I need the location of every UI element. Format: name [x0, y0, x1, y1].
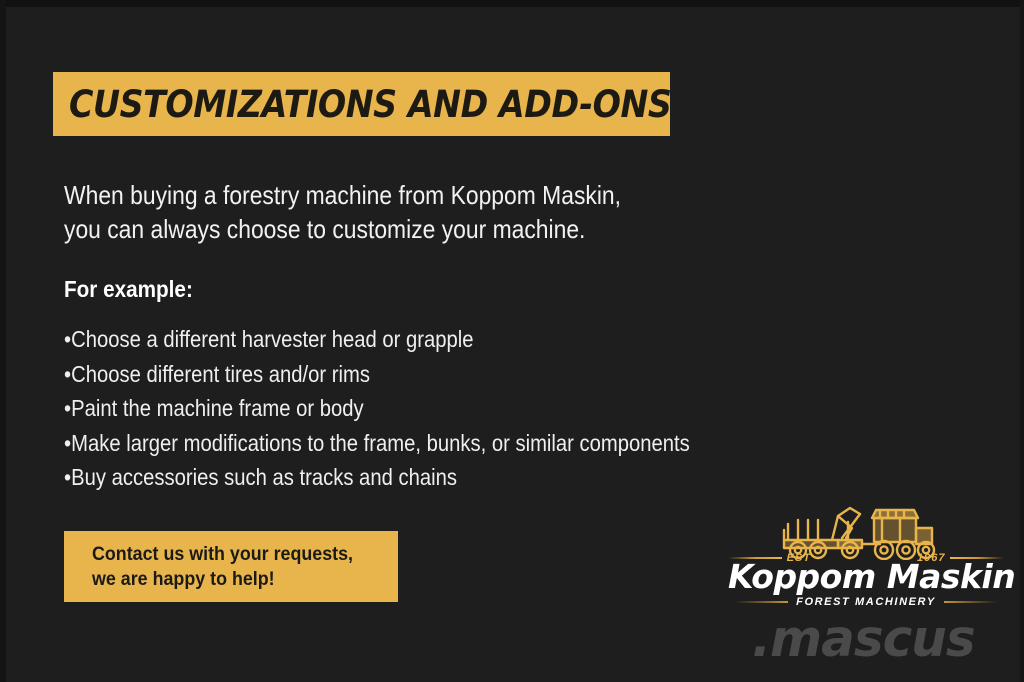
for-example-label: For example:: [64, 276, 193, 303]
mascus-watermark: .mascus: [752, 612, 1009, 668]
list-item-label: Choose different tires and/or rims: [71, 361, 370, 387]
title-banner: CUSTOMIZATIONS AND ADD-ONS: [53, 72, 670, 136]
logo-wordmark: Koppom Maskin: [728, 560, 1004, 594]
list-item-label: Choose a different harvester head or gra…: [71, 326, 473, 352]
contact-cta-box[interactable]: Contact us with your requests, we are ha…: [64, 531, 398, 602]
intro-line-1: When buying a forestry machine from Kopp…: [64, 178, 698, 212]
cta-line-1: Contact us with your requests,: [92, 542, 380, 567]
koppom-maskin-logo: EST 1967 Koppom Maskin FOREST MACHINERY: [728, 498, 1004, 610]
intro-line-2: you can always choose to customize your …: [64, 212, 698, 246]
intro-paragraph: When buying a forestry machine from Kopp…: [64, 178, 784, 246]
list-item-label: Make larger modifications to the frame, …: [71, 430, 690, 456]
logo-tag-rule-right: [944, 601, 998, 603]
right-edge-strip: [1020, 0, 1024, 682]
cta-line-2: we are happy to help!: [92, 567, 380, 592]
logo-tag-rule-left: [734, 601, 788, 603]
logo-tagline-row: FOREST MACHINERY: [734, 595, 998, 609]
bullet-marker-icon: •: [64, 361, 71, 387]
page-title: CUSTOMIZATIONS AND ADD-ONS: [69, 86, 671, 123]
list-item-label: Buy accessories such as tracks and chain…: [71, 464, 457, 490]
bullet-marker-icon: •: [64, 326, 71, 352]
list-item-label: Paint the machine frame or body: [71, 395, 364, 421]
promo-slide: CUSTOMIZATIONS AND ADD-ONS When buying a…: [0, 0, 1024, 682]
list-item: •Choose different tires and/or rims: [64, 357, 733, 392]
list-item: •Buy accessories such as tracks and chai…: [64, 460, 733, 495]
logo-tagline: FOREST MACHINERY: [788, 596, 944, 608]
bullet-marker-icon: •: [64, 464, 71, 490]
list-item: •Choose a different harvester head or gr…: [64, 322, 733, 357]
left-edge-strip: [0, 0, 6, 682]
bullet-marker-icon: •: [64, 395, 71, 421]
list-item: •Make larger modifications to the frame,…: [64, 426, 733, 461]
bullet-marker-icon: •: [64, 430, 71, 456]
top-edge-strip: [0, 0, 1024, 7]
customization-options-list: •Choose a different harvester head or gr…: [64, 322, 824, 495]
list-item: •Paint the machine frame or body: [64, 391, 733, 426]
